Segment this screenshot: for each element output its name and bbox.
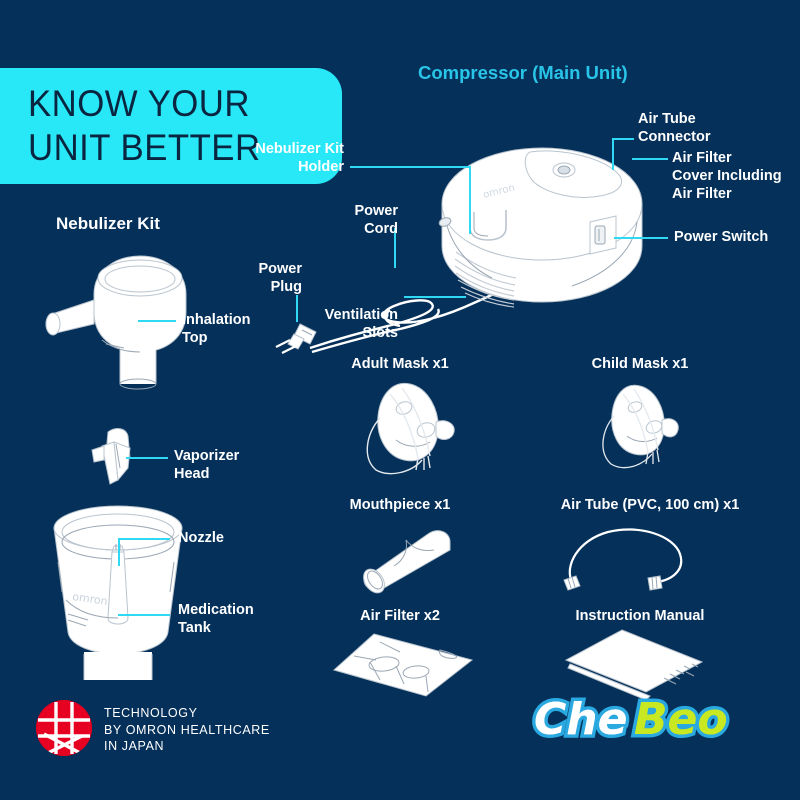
air-tube-illustration (550, 520, 710, 600)
mouthpiece-illustration (350, 524, 460, 594)
leader-line-vaporizer-head (126, 457, 168, 459)
leader-line-inhalation-top (138, 320, 176, 322)
leader-line-medication-tank (118, 614, 170, 616)
accessory-label-mouthpiece: Mouthpiece x1 (290, 497, 510, 513)
callout-vaporizer-head: Vaporizer Head (174, 447, 239, 483)
leader-line-ventilation-slots (404, 296, 466, 298)
leader-line-air-tube-connector-vertical (612, 138, 614, 170)
vaporizer-head-illustration (86, 424, 156, 494)
callout-inhalation-top: Inhalation Top (182, 311, 250, 347)
omron-logo (36, 700, 92, 756)
child-mask-illustration (580, 380, 700, 476)
title-line-1: KNOW YOUR (28, 82, 323, 126)
leader-line-kit-holder (350, 166, 470, 168)
accessory-label-child-mask: Child Mask x1 (530, 356, 750, 372)
callout-power-cord: Power Cord (340, 202, 398, 238)
leader-line-air-filter-cover (632, 158, 668, 160)
svg-text:Beo: Beo (634, 694, 728, 745)
leader-line-air-tube-connector (612, 138, 634, 140)
accessory-label-air-filter: Air Filter x2 (290, 608, 510, 624)
accessory-label-air-tube: Air Tube (PVC, 100 cm) x1 (530, 497, 770, 513)
callout-air-filter-cover: Air Filter Cover Including Air Filter (672, 149, 782, 203)
callout-nozzle: Nozzle (178, 529, 224, 547)
accessory-label-adult-mask: Adult Mask x1 (290, 356, 510, 372)
leader-line-nozzle (118, 538, 170, 540)
adult-mask-illustration (340, 378, 470, 478)
leader-line-kit-holder-vertical (469, 166, 471, 234)
callout-power-plug: Power Plug (240, 260, 302, 296)
leader-line-power-switch (614, 237, 668, 239)
callout-power-switch: Power Switch (674, 228, 768, 246)
accessory-label-instruction-manual: Instruction Manual (530, 608, 750, 624)
callout-air-tube-connector: Air Tube Connector (638, 110, 711, 146)
chebeo-logo: Che Che Beo Beo (530, 688, 780, 750)
section-heading-compressor: Compressor (Main Unit) (418, 62, 628, 84)
leader-line-nozzle-vertical (118, 538, 120, 566)
air-filter-illustration (330, 630, 480, 700)
section-heading-nebulizer-kit: Nebulizer Kit (56, 214, 160, 234)
callout-ventilation-slots: Ventilation Slots (298, 306, 398, 342)
svg-text:Che: Che (534, 694, 627, 745)
callout-medication-tank: Medication Tank (178, 601, 254, 637)
footer-technology-text: TECHNOLOGY BY OMRON HEALTHCARE IN JAPAN (104, 705, 270, 755)
medication-tank-illustration: omron (32, 500, 212, 680)
callout-nebulizer-kit-holder: Nebulizer Kit Holder (236, 140, 344, 176)
